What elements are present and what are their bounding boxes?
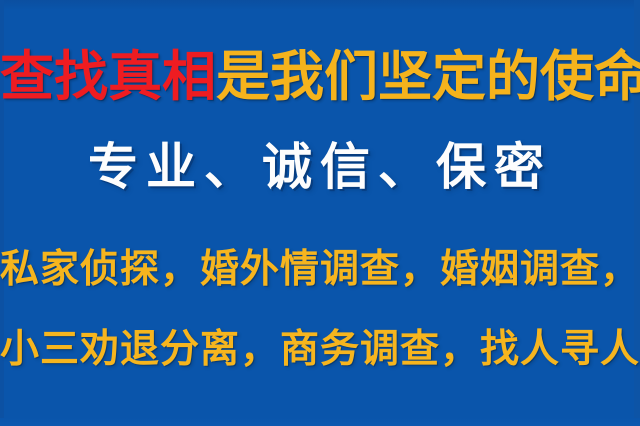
headline-emphasis-text: 查找真相	[0, 45, 216, 108]
service-list-line-1: 私家侦探，婚外情调查，婚姻调查，	[0, 250, 640, 289]
advertisement-banner: 查找真相是我们坚定的使命 专业、诚信、保密 私家侦探，婚外情调查，婚姻调查， 小…	[0, 0, 640, 426]
subheadline: 专业、诚信、保密	[0, 142, 640, 192]
headline: 查找真相是我们坚定的使命	[0, 50, 640, 104]
bottom-edge-gradient	[0, 418, 640, 426]
headline-rest-text: 是我们坚定的使命	[216, 45, 640, 108]
top-edge-gradient	[0, 0, 640, 10]
service-list-line-2: 小三劝退分离，商务调查，找人寻人	[0, 330, 640, 369]
